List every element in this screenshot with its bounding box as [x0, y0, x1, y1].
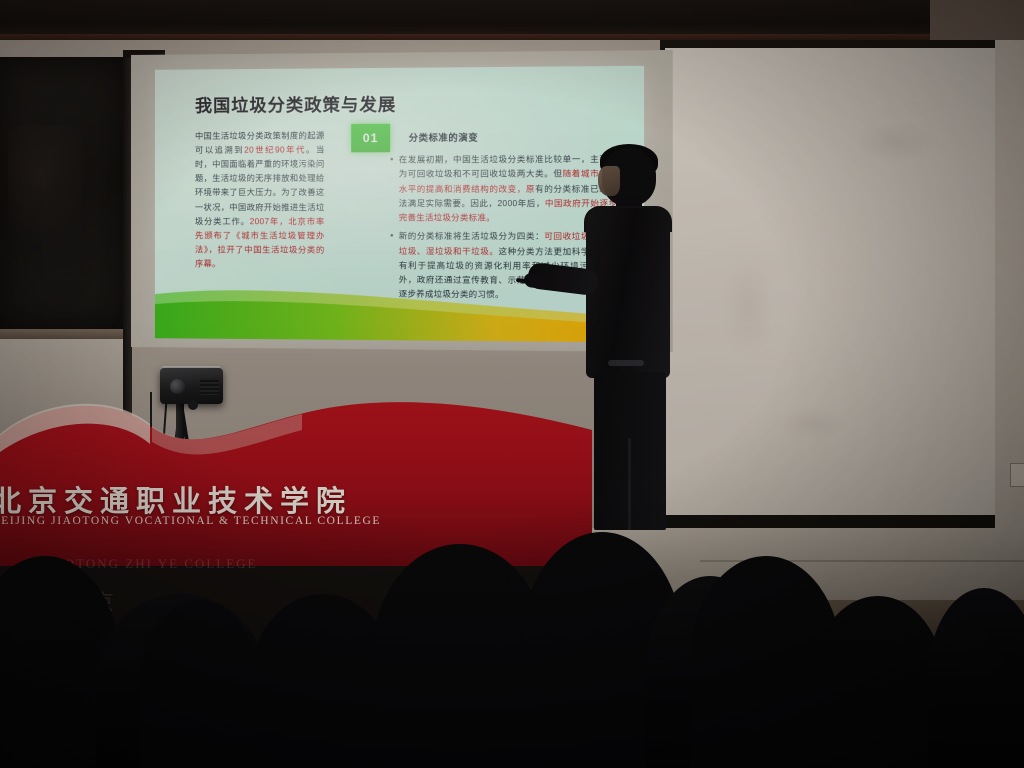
slide-left-paragraph: 中国生活垃圾分类政策制度的起源可以追溯到20世纪90年代。当时，中国面临着严重的… [195, 129, 325, 272]
projector-vent [200, 378, 219, 395]
chalk-ledge [0, 329, 132, 339]
audience-head [812, 596, 944, 768]
bullet-marker-icon: • [390, 153, 394, 225]
bullet-segment: 新的分类标准将生活垃圾分为四类： [399, 232, 544, 242]
presenter-jacket [586, 208, 670, 378]
wall-outlet [1010, 463, 1024, 487]
projector-lens-icon [170, 379, 185, 394]
paragraph-segment: 。当时，中国面临着严重的环境污染问题，生活垃圾的无序排放和处理给环境带来了巨大压… [195, 145, 325, 225]
lecture-hall-photo: 我国垃圾分类政策与发展 中国生活垃圾分类政策制度的起源可以追溯到20世纪90年代… [0, 0, 1024, 768]
presenter-jacket-pocket [608, 360, 644, 366]
slide-title: 我国垃圾分类政策与发展 [195, 90, 396, 116]
audience-head [928, 588, 1024, 768]
blackboard [0, 57, 132, 329]
paragraph-segment-highlight: 20世纪90年代 [244, 146, 306, 155]
presentation-slide: 我国垃圾分类政策与发展 中国生活垃圾分类政策制度的起源可以追溯到20世纪90年代… [155, 66, 644, 343]
whiteboard [665, 48, 995, 518]
section-number-badge: 01 [351, 124, 390, 153]
audience [0, 500, 1024, 768]
presenter-face [598, 166, 620, 196]
section-heading: 分类标准的演变 [409, 131, 479, 145]
audience-head [140, 600, 258, 768]
presenter [576, 148, 680, 528]
